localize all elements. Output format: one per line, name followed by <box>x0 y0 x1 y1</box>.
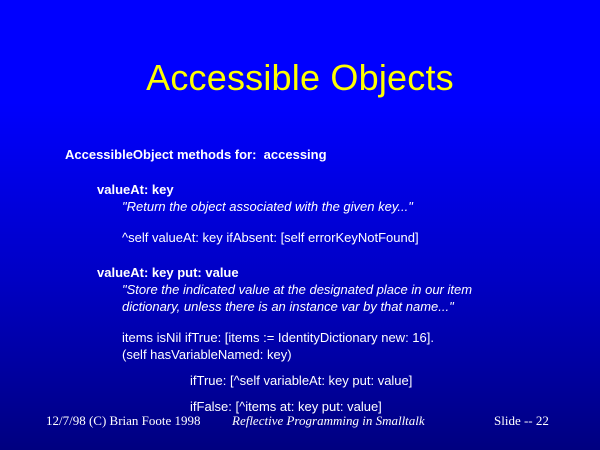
method-code-value-at-put-iftrue: ifTrue: [^self variableAt: key put: valu… <box>0 372 600 389</box>
spacer <box>0 246 600 264</box>
spacer <box>0 389 600 398</box>
page-title: Accessible Objects <box>0 57 600 99</box>
spacer <box>0 163 600 181</box>
method-selector-value-at: valueAt: key <box>0 181 600 198</box>
spacer <box>0 215 600 229</box>
spacer <box>0 315 600 329</box>
slide-footer: 12/7/98 (C) Brian Foote 1998 Reflective … <box>0 412 600 434</box>
slide-body: AccessibleObject methods for: accessing … <box>0 146 600 415</box>
method-code-value-at-put-line-2: (self hasVariableNamed: key) <box>0 346 600 363</box>
section-heading: AccessibleObject methods for: accessing <box>0 146 600 163</box>
slide-canvas: Accessible Objects AccessibleObject meth… <box>0 0 600 450</box>
footer-date-copyright: 12/7/98 (C) Brian Foote 1998 <box>46 412 201 430</box>
footer-slide-number: Slide -- 22 <box>494 412 549 430</box>
method-code-value-at-put-line-1: items isNil ifTrue: [items := IdentityDi… <box>0 329 600 346</box>
method-code-value-at-line-1: ^self valueAt: key ifAbsent: [self error… <box>0 229 600 246</box>
method-comment-value-at-put-line-1: "Store the indicated value at the design… <box>0 281 600 298</box>
footer-presentation-title: Reflective Programming in Smalltalk <box>232 412 425 430</box>
method-selector-value-at-put: valueAt: key put: value <box>0 264 600 281</box>
method-comment-value-at-put-line-2: dictionary, unless there is an instance … <box>0 298 600 315</box>
spacer <box>0 363 600 372</box>
method-comment-value-at: "Return the object associated with the g… <box>0 198 600 215</box>
